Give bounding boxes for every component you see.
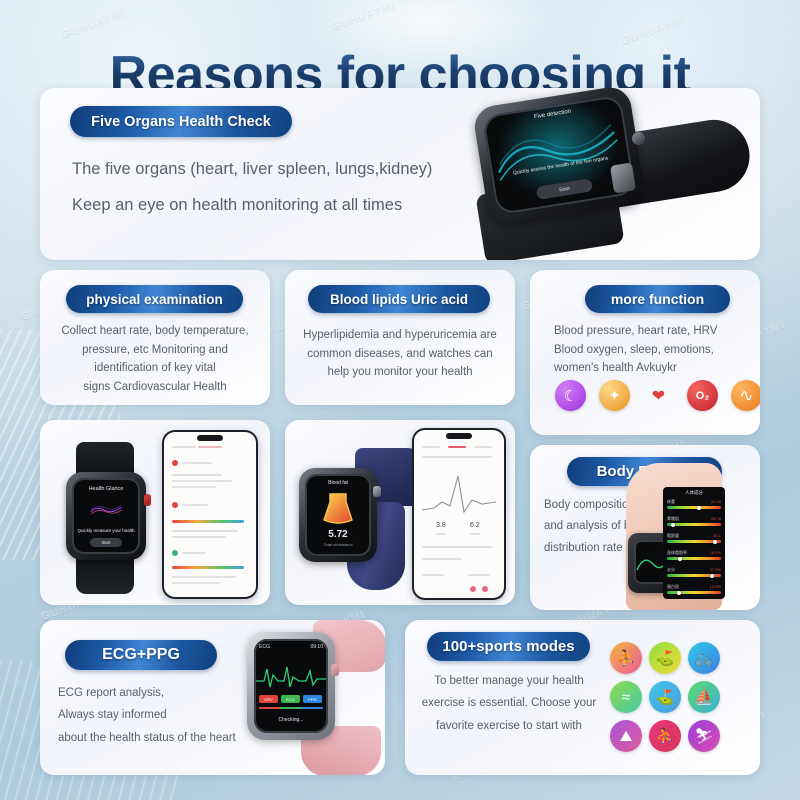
watch-crown [632,132,645,145]
watch-health-glance: Health Glance Quickly measure your healt… [52,442,172,592]
cycling-icon[interactable]: 🚲 [688,642,720,674]
phone-health-report [162,430,258,599]
card-sports-modes: 100+sports modes To better manage your h… [405,620,760,775]
row-label: 脂肪量 [667,533,679,539]
row-value: 32.1 [713,533,721,538]
watch-screen-title: ECG [259,644,270,650]
watch-face: Blood fat 5.72 Total cholesterol [305,474,371,556]
infographic-page: GUHUAYMI GUHUAYMI GUHUAYMI GUHUAYMI GUHU… [0,0,800,800]
card-health-glance-photo: Health Glance Quickly measure your healt… [40,420,270,605]
blood-lipids-line-2: common diseases, and watches can [285,345,515,364]
card-blood-lipids: Blood lipids Uric acid Hyperlipidemia an… [285,270,515,405]
watch-start-label: Start [102,540,111,545]
chip-hrv: HRV [259,695,278,703]
sports-icon-grid: ⛹ ⛳ 🚲 ≈ ⛳ ⛵ ⛰ ⛹ ⛷ [610,642,720,752]
card-more-function: more function Blood pressure, heart rate… [530,270,760,435]
chip-ppg: PPG [303,695,322,703]
body-composition-display: 人体成分 体重 22.33 骨骼肌 28.76 脂肪量 32.1 身体脂肪率 1… [663,487,725,599]
row-value: 47.2% [710,567,721,572]
watch-face: Health Glance Quickly measure your healt… [72,478,140,554]
watch-five-detection: Five detection Quickly assess the health… [460,88,760,260]
watermark: GUHUAYMI [330,0,397,33]
phone-notch [446,433,472,439]
phone-screen: 3.8 6.2 [414,430,504,598]
chip-ecg: ECG [281,695,300,703]
badge-ecg-ppg[interactable]: ECG+PPG [65,640,217,670]
basketball-icon[interactable]: ⛳ [649,681,681,713]
blood-lipids-line-3: help you monitor your health [285,363,515,382]
watch-screen-title: Blood fat [305,480,371,486]
skating-icon[interactable]: ⛷ [688,720,720,752]
watch-screen-title: Health Glance [72,486,140,492]
badge-more-function[interactable]: more function [585,285,730,313]
blood-oxygen-icon[interactable]: O₂ [687,380,718,411]
card-five-organs: Five Organs Health Check The five organs… [40,88,760,260]
badge-physical-examination[interactable]: physical examination [66,285,243,313]
watch-ecg: ECG 09:10 HRV ECG PPG Checking... [225,620,385,775]
sports-modes-text: To better manage your health exercise is… [411,670,607,737]
watermark: GUHUAYMI [620,13,687,47]
walking-icon[interactable]: ⛹ [610,642,642,674]
sports-modes-line-1: To better manage your health [411,670,607,692]
rowing-icon[interactable]: ⛵ [688,681,720,713]
row-label: 骨骼肌 [667,516,679,522]
card-physical-examination: physical examination Collect heart rate,… [40,270,270,405]
phone-screen [164,432,256,597]
card-ecg-ppg: ECG+PPG ECG report analysis, Always stay… [40,620,385,775]
row-value: 22.33 [711,499,721,504]
watch-start-label: Start [559,185,570,193]
yoga-icon[interactable]: ⛹ [649,720,681,752]
phone-value-2: 6.2 [470,522,480,529]
watch-crown [331,664,339,676]
wellness-icon[interactable]: ✦ [599,380,630,411]
badge-sports-modes[interactable]: 100+sports modes [427,632,590,661]
row-value: 28.76 [711,516,721,521]
badge-blood-lipids[interactable]: Blood lipids Uric acid [308,285,490,313]
heart-rate-icon[interactable]: ❤ [643,380,674,411]
watermark: GUHUAYMI [60,7,127,41]
ecg-pulse-icon[interactable]: ∿ [731,380,760,411]
watch-start-button[interactable]: Start [90,538,122,547]
running-icon[interactable]: ⛳ [649,642,681,674]
watch-face: ECG 09:10 HRV ECG PPG Checking... [254,639,328,733]
physical-examination-line-3: identification of key vital [40,359,270,378]
more-function-line-2: Blood oxygen, sleep, emotions, [554,341,760,360]
watch-crown [373,486,381,497]
blood-lipids-text: Hyperlipidemia and hyperuricemia are com… [285,326,515,382]
sleep-moon-icon[interactable]: ☾ [555,380,586,411]
physical-examination-line-2: pressure, etc Monitoring and [40,341,270,360]
row-label: 蛋白质 [667,584,679,590]
five-organs-line-2: Keep an eye on health monitoring at all … [72,192,402,219]
watch-blood-fat-value-label: Total cholesterol [305,542,371,547]
more-function-text: Blood pressure, heart rate, HRV Blood ox… [554,322,760,378]
watch-side-button [610,162,636,193]
physical-examination-text: Collect heart rate, body temperature, pr… [40,322,270,397]
more-function-line-1: Blood pressure, heart rate, HRV [554,322,760,341]
card-blood-fat-photo: Blood fat 5.72 Total cholesterol [285,420,515,605]
five-organs-line-1: The five organs (heart, liver spleen, lu… [72,156,432,183]
physical-examination-line-4: signs Cardiovascular Health [40,378,270,397]
sports-modes-line-3: favorite exercise to start with [411,715,607,737]
row-label: 水分 [667,567,675,573]
swimming-icon[interactable]: ≈ [610,681,642,713]
row-value: 16.5% [710,550,721,555]
more-function-line-3: women's health Avkuykr [554,359,760,378]
watch-status: Checking... [254,717,328,723]
hiking-icon[interactable]: ⛰ [610,720,642,752]
sports-modes-line-2: exercise is essential. Choose your [411,692,607,714]
phone-value-1: 3.8 [436,522,446,529]
watch-blood-fat-value: 5.72 [305,529,371,540]
watch-crown [144,494,151,506]
body-composition-title: 人体成分 [663,490,725,496]
row-label: 体重 [667,499,675,505]
badge-five-organs[interactable]: Five Organs Health Check [70,106,292,137]
physical-examination-line-1: Collect heart rate, body temperature, [40,322,270,341]
watch-screen-time: 09:10 [310,644,323,650]
watch-screen-subtitle: Quickly measure your health [72,528,140,533]
row-label: 身体脂肪率 [667,550,687,556]
blood-lipids-line-1: Hyperlipidemia and hyperuricemia are [285,326,515,345]
row-value: 13.3% [710,584,721,589]
card-body-fat-mbi: Body Fat MBI Body composition and analys… [530,445,760,610]
phone-notch [197,435,223,441]
phone-blood-fat-report: 3.8 6.2 [412,428,506,600]
